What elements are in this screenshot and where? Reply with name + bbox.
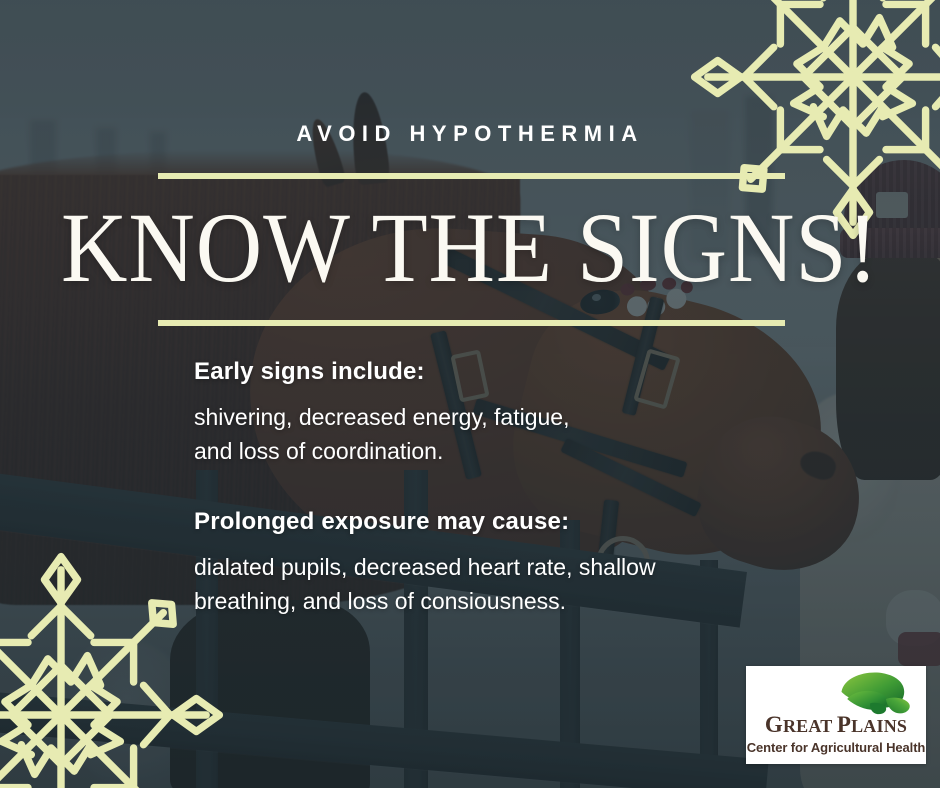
- logo[interactable]: GREAT PLAINS Center for Agricultural Hea…: [746, 666, 926, 764]
- prolonged-exposure-line: breathing, and loss of consiousness.: [194, 584, 656, 618]
- divider-top: [158, 173, 785, 179]
- prolonged-exposure-block: Prolonged exposure may cause: dialated p…: [194, 508, 656, 618]
- logo-word-g: G: [765, 712, 783, 737]
- early-signs-heading: Early signs include:: [194, 358, 569, 386]
- logo-word-lains: LAINS: [851, 716, 907, 736]
- early-signs-block: Early signs include: shivering, decrease…: [194, 358, 569, 468]
- page-title: KNOW THE SIGNS!: [38, 196, 903, 300]
- logo-wordmark: GREAT PLAINS: [746, 712, 926, 739]
- prolonged-exposure-line: dialated pupils, decreased heart rate, s…: [194, 550, 656, 584]
- early-signs-line: shivering, decreased energy, fatigue,: [194, 400, 569, 434]
- poster-content: AVOID HYPOTHERMIA KNOW THE SIGNS! Early …: [0, 0, 940, 788]
- leaf-icon: [830, 670, 916, 718]
- divider-bottom: [158, 320, 785, 326]
- eyebrow-text: AVOID HYPOTHERMIA: [0, 121, 940, 147]
- prolonged-exposure-heading: Prolonged exposure may cause:: [194, 508, 656, 536]
- logo-word-reat: REAT: [783, 716, 837, 736]
- poster: AVOID HYPOTHERMIA KNOW THE SIGNS! Early …: [0, 0, 940, 788]
- logo-word-p: P: [837, 712, 851, 737]
- early-signs-line: and loss of coordination.: [194, 434, 569, 468]
- logo-tagline: Center for Agricultural Health: [746, 740, 926, 755]
